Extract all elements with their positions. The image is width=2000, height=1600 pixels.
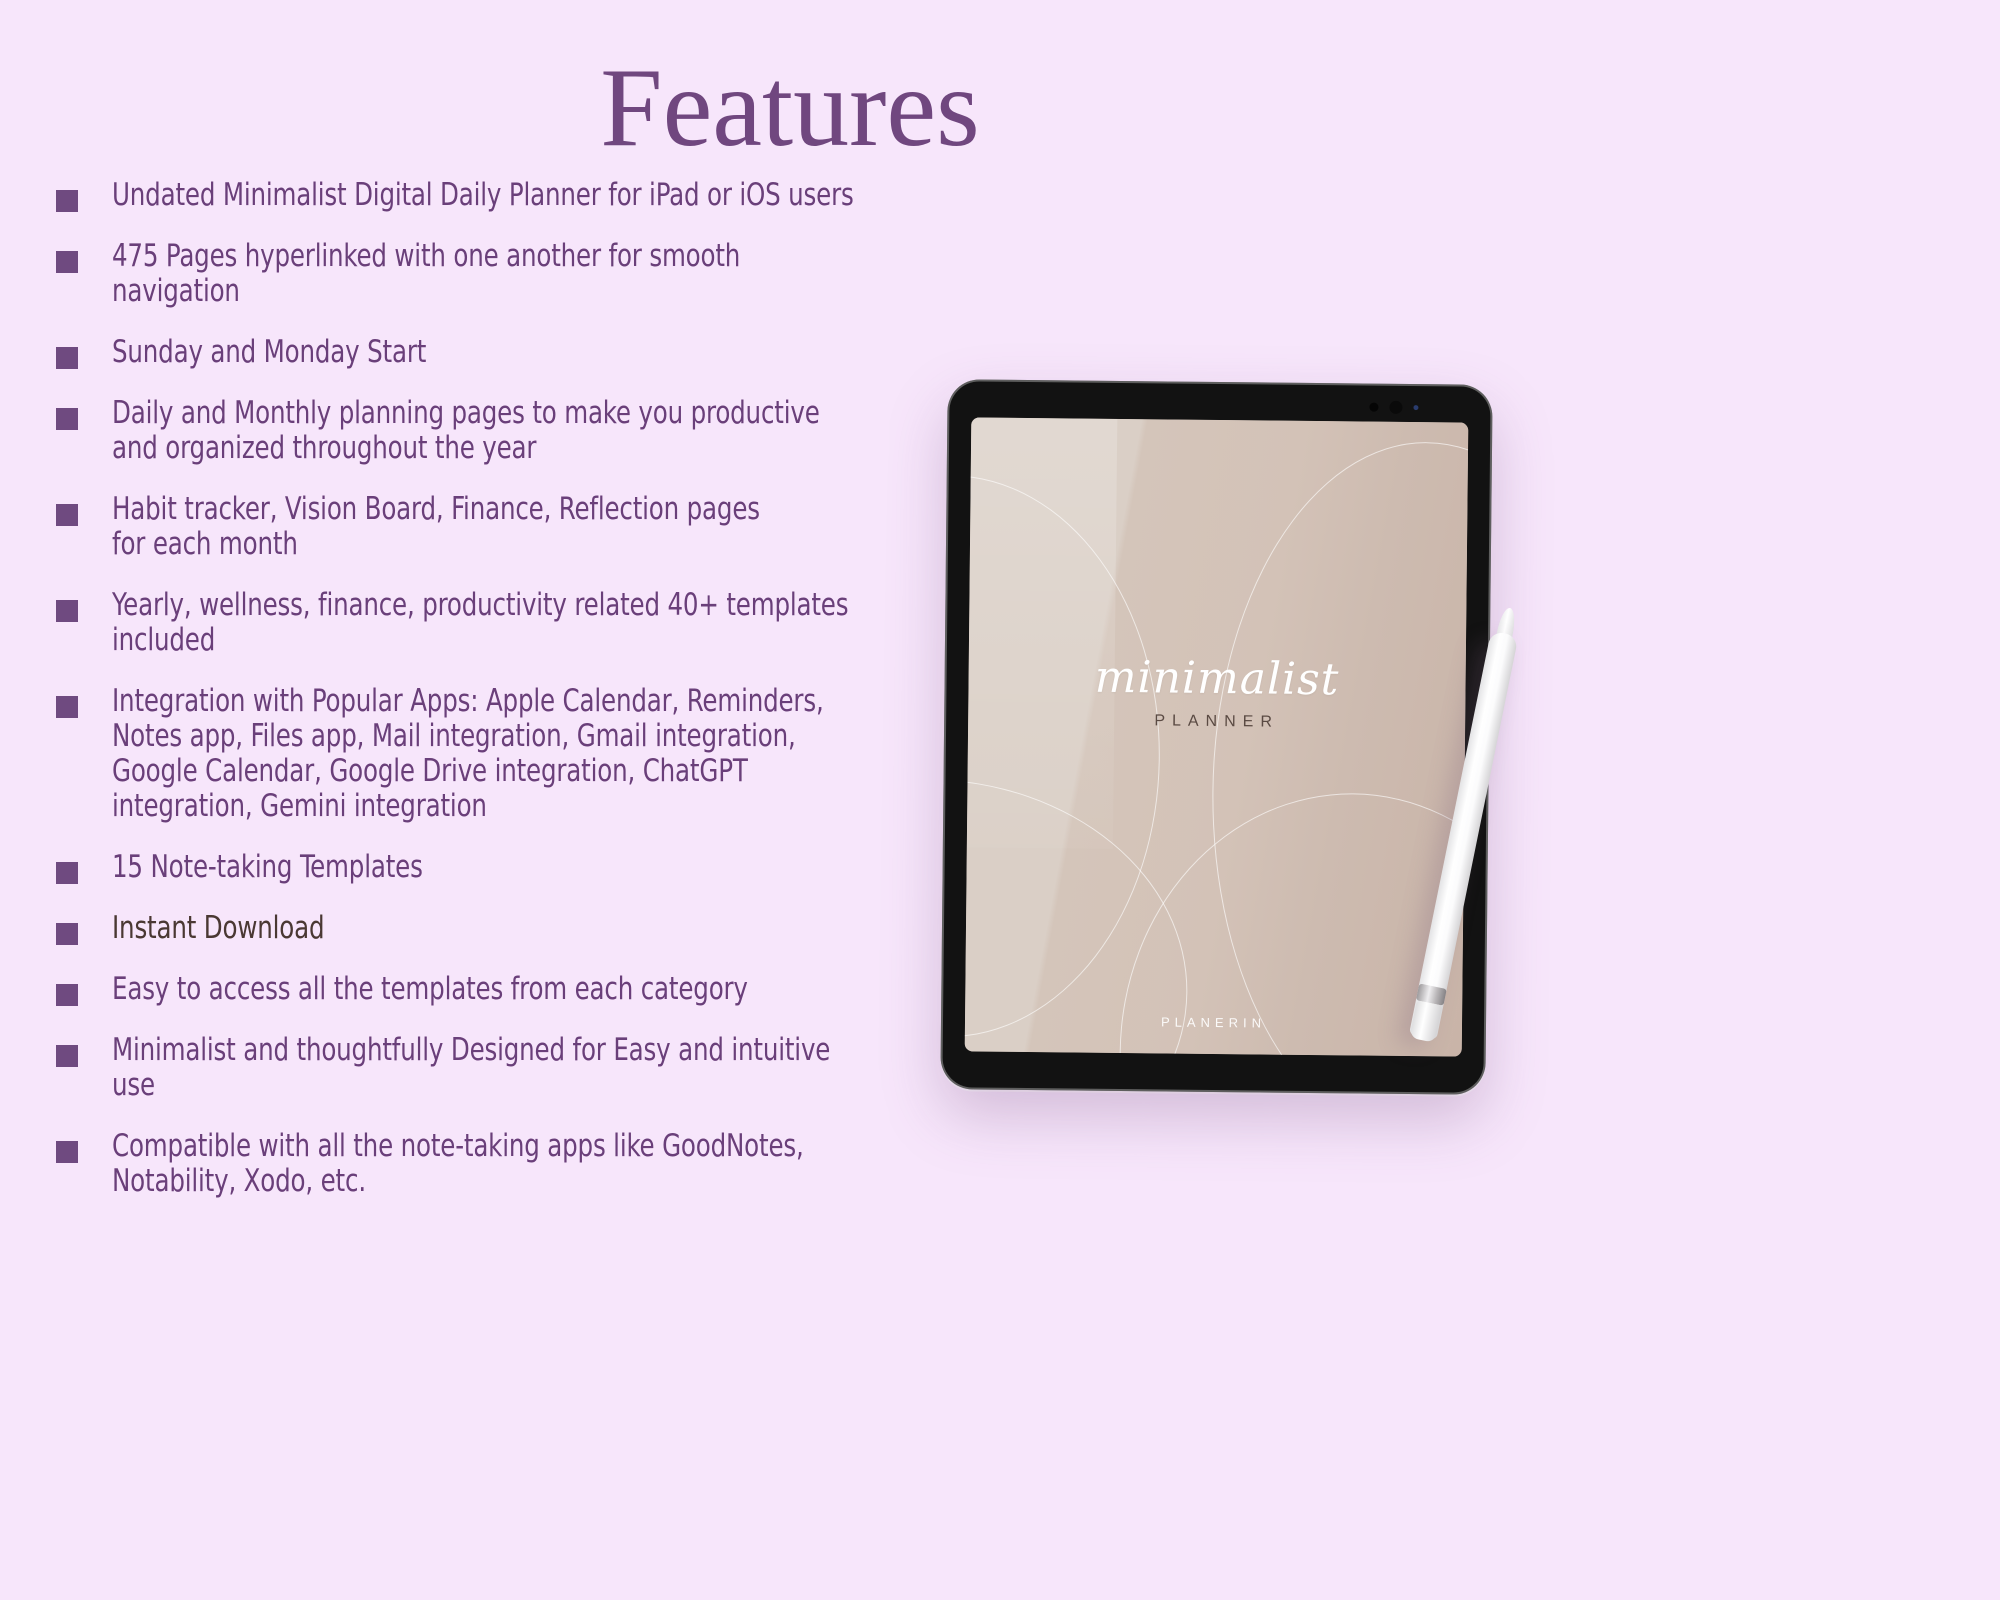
list-item: Yearly, wellness, finance, productivity … xyxy=(56,588,956,658)
feature-text: Habit tracker, Vision Board, Finance, Re… xyxy=(112,492,855,562)
square-bullet-icon xyxy=(56,347,78,369)
page-title-text: Features xyxy=(600,52,979,164)
square-bullet-icon xyxy=(56,1141,78,1163)
feature-text: 15 Note-taking Templates xyxy=(112,850,855,885)
square-bullet-icon xyxy=(56,408,78,430)
list-item: Daily and Monthly planning pages to make… xyxy=(56,396,956,466)
square-bullet-icon xyxy=(56,923,78,945)
feature-list: Undated Minimalist Digital Daily Planner… xyxy=(56,178,956,1225)
feature-text: Daily and Monthly planning pages to make… xyxy=(112,396,855,466)
page-title: Features xyxy=(0,52,2000,164)
feature-text: Sunday and Monday Start xyxy=(112,335,855,370)
list-item: Compatible with all the note-taking apps… xyxy=(56,1129,956,1199)
screen-branding: minimalist PLANNER xyxy=(968,654,1466,733)
camera-lens-icon xyxy=(1389,401,1402,414)
tablet-screen: minimalist PLANNER PLANERIN xyxy=(965,417,1469,1056)
list-item: Undated Minimalist Digital Daily Planner… xyxy=(56,178,956,213)
feature-text: 475 Pages hyperlinked with one another f… xyxy=(112,239,855,309)
tablet-frame: minimalist PLANNER PLANERIN xyxy=(940,379,1492,1095)
feature-text: Minimalist and thoughtfully Designed for… xyxy=(112,1033,855,1103)
camera-cluster xyxy=(1369,401,1418,415)
sensor-dot-icon xyxy=(1369,403,1378,412)
feature-text: Compatible with all the note-taking apps… xyxy=(112,1129,855,1199)
square-bullet-icon xyxy=(56,696,78,718)
square-bullet-icon xyxy=(56,504,78,526)
list-item: Easy to access all the templates from ea… xyxy=(56,972,956,1007)
square-bullet-icon xyxy=(56,251,78,273)
list-item: 475 Pages hyperlinked with one another f… xyxy=(56,239,956,309)
brand-script-text: minimalist xyxy=(968,654,1465,703)
device-mockup: minimalist PLANNER PLANERIN xyxy=(930,360,2000,1120)
square-bullet-icon xyxy=(56,1045,78,1067)
feature-text: Instant Download xyxy=(112,911,855,946)
feature-text: Yearly, wellness, finance, productivity … xyxy=(112,588,855,658)
square-bullet-icon xyxy=(56,600,78,622)
list-item: Integration with Popular Apps: Apple Cal… xyxy=(56,684,956,824)
square-bullet-icon xyxy=(56,862,78,884)
list-item: Minimalist and thoughtfully Designed for… xyxy=(56,1033,956,1103)
square-bullet-icon xyxy=(56,190,78,212)
list-item: Habit tracker, Vision Board, Finance, Re… xyxy=(56,492,956,562)
feature-text: Easy to access all the templates from ea… xyxy=(112,972,855,1007)
indicator-dot-icon xyxy=(1413,405,1418,410)
feature-text: Undated Minimalist Digital Daily Planner… xyxy=(112,178,855,213)
feature-text: Integration with Popular Apps: Apple Cal… xyxy=(112,684,855,824)
list-item: Sunday and Monday Start xyxy=(56,335,956,370)
list-item: 15 Note-taking Templates xyxy=(56,850,956,885)
square-bullet-icon xyxy=(56,984,78,1006)
list-item: Instant Download xyxy=(56,911,956,946)
